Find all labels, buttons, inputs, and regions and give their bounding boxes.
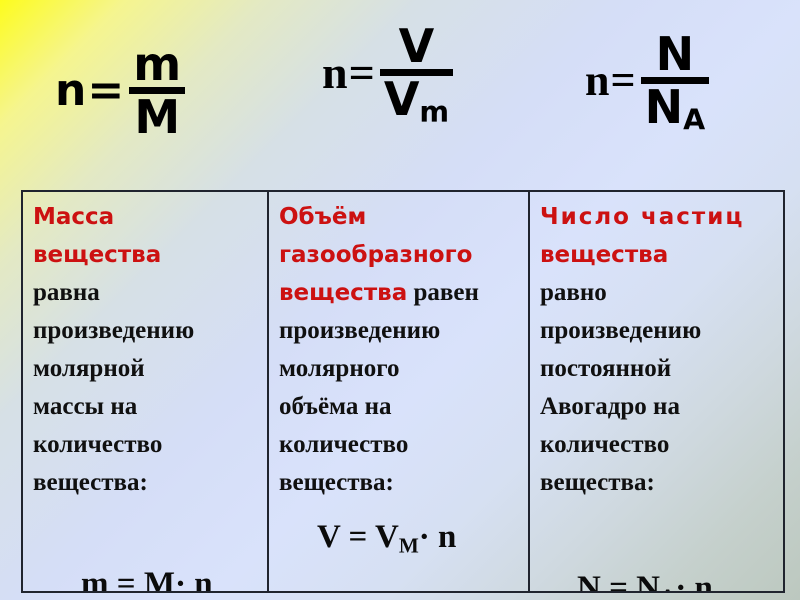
cell-line: Число частиц <box>540 198 775 236</box>
fraction-denominator: NA <box>641 85 710 129</box>
formula-tail: n <box>695 570 713 591</box>
cell-line: произведению <box>33 312 259 350</box>
cell-line: объёма на <box>279 388 520 426</box>
table-cell-particles: Число частиц вещества равно произведению… <box>530 192 783 591</box>
table-cell-volume: Объём газообразного вещества равен произ… <box>269 192 530 591</box>
cell-line: вещества: <box>279 464 520 502</box>
cell-line: Масса <box>33 198 259 236</box>
formula-n-equals-N-over-NA: n = N NA <box>585 32 709 129</box>
equals-sign: = <box>609 570 628 591</box>
equals-sign: = <box>349 50 375 96</box>
fraction-stack: m M <box>129 42 185 139</box>
cell-line: вещества: <box>33 464 259 502</box>
formula-rhs: N <box>636 570 660 591</box>
highlight-term: вещества <box>540 242 668 268</box>
definitions-table: Масса вещества равна произведению молярн… <box>21 190 785 593</box>
inline-word: равен <box>413 279 478 306</box>
formula-m-equals-M-times-n: m = M· n <box>81 566 213 591</box>
cell-line: равно <box>540 274 775 312</box>
formula-tail: n <box>438 519 456 555</box>
highlight-term: Объём <box>279 204 366 230</box>
formula-rhs-subscript: М <box>399 533 419 557</box>
formula-lhs: n <box>322 50 347 96</box>
formula-lhs: V <box>317 519 340 555</box>
fraction-numerator: N <box>652 32 699 76</box>
highlight-term: Масса <box>33 204 114 230</box>
cell-line: количество <box>33 426 259 464</box>
equals-sign: = <box>87 69 124 113</box>
formula-rhs: M <box>144 566 175 591</box>
formula-n-equals-V-over-Vm: n = V Vm <box>322 24 453 121</box>
cell-line: молярной <box>33 350 259 388</box>
formula-rhs-subscript: A <box>660 584 675 591</box>
highlight-term: вещества <box>279 280 407 306</box>
slide-canvas: n = m M n = V Vm n = N NA <box>0 0 800 600</box>
formula-lhs: m <box>81 566 109 591</box>
cell-line: вещества равен <box>279 274 520 312</box>
cell-line: количество <box>540 426 775 464</box>
formula-lhs: N <box>577 570 601 591</box>
cell-line: молярного <box>279 350 520 388</box>
formula-rhs: V <box>375 519 399 555</box>
highlight-term: Число частиц <box>540 204 744 230</box>
formula-N-equals-NA-times-n: N = NA· n <box>577 570 713 591</box>
cell-line: постоянной <box>540 350 775 388</box>
formula-tail: n <box>194 566 212 591</box>
cell-line: вещества <box>540 236 775 274</box>
highlight-term: газообразного <box>279 242 472 268</box>
denominator-subscript: m <box>419 95 449 128</box>
cell-line: Авогадро на <box>540 388 775 426</box>
formula-lhs: n <box>55 69 85 113</box>
fraction-denominator: M <box>130 95 184 139</box>
multiplication-dot: · <box>675 570 686 591</box>
fraction-stack: V Vm <box>380 24 453 121</box>
equals-sign: = <box>349 519 368 555</box>
fraction-numerator: V <box>395 24 439 68</box>
denominator-subscript: A <box>683 103 705 136</box>
cell-line: вещества <box>33 236 259 274</box>
equals-sign: = <box>117 566 136 591</box>
formula-lhs: n <box>585 59 608 103</box>
formula-V-equals-Vm-times-n: V = VМ· n <box>317 519 456 556</box>
formula-n-equals-m-over-M: n = m M <box>55 42 185 139</box>
cell-line: Объём <box>279 198 520 236</box>
cell-line: произведению <box>540 312 775 350</box>
cell-line: количество <box>279 426 520 464</box>
multiplication-dot: · <box>419 519 430 555</box>
cell-line: газообразного <box>279 236 520 274</box>
fraction-denominator: Vm <box>380 77 453 121</box>
equals-sign: = <box>610 59 635 103</box>
highlight-term: вещества <box>33 242 161 268</box>
formula-row: n = m M n = V Vm n = N NA <box>0 0 800 180</box>
fraction-numerator: m <box>129 42 185 86</box>
multiplication-dot: · <box>175 566 186 591</box>
fraction-stack: N NA <box>641 32 710 129</box>
table-cell-mass: Масса вещества равна произведению молярн… <box>23 192 269 591</box>
cell-line: равна <box>33 274 259 312</box>
cell-line: вещества: <box>540 464 775 502</box>
cell-line: произведению <box>279 312 520 350</box>
cell-line: массы на <box>33 388 259 426</box>
